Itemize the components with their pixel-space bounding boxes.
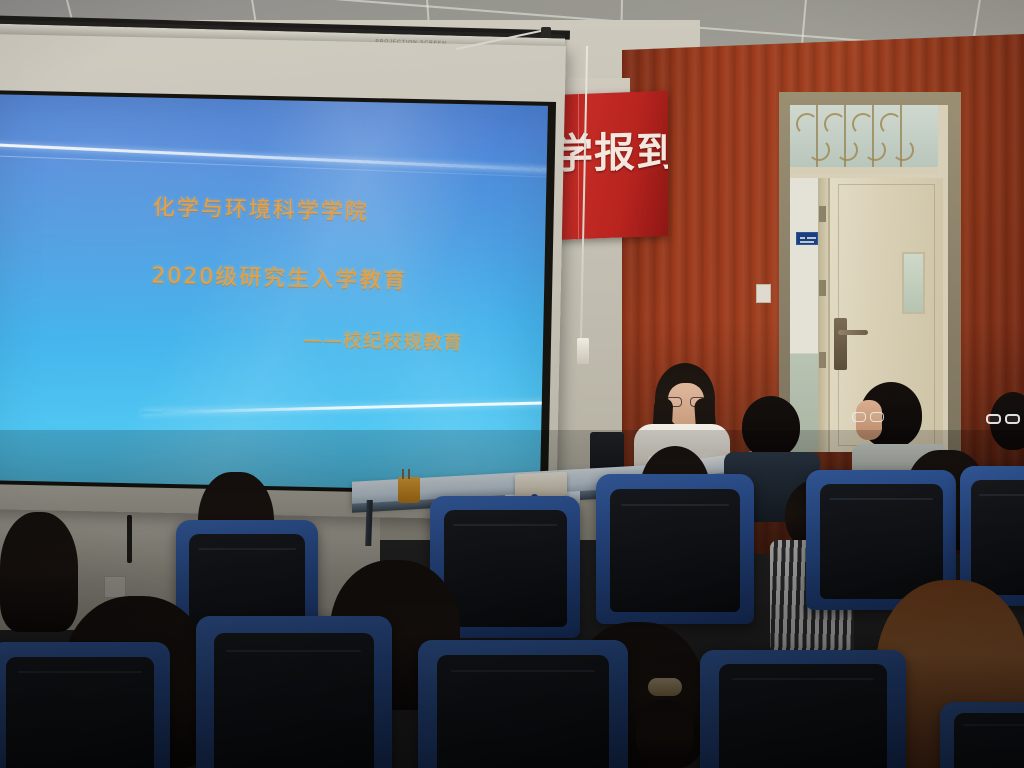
door-vision-panel	[902, 252, 925, 314]
door-lock-plate[interactable]	[834, 318, 847, 370]
wall-cable	[127, 515, 132, 563]
classroom-scene: 学报到 PROJECTION SCREEN 化学与环境科学学院 2020级研究生…	[0, 0, 1024, 768]
audience-ponytail	[636, 700, 694, 768]
light-switch[interactable]	[756, 284, 771, 303]
chair-front-e[interactable]	[940, 702, 1024, 768]
screen-pull-cord-handle[interactable]	[577, 338, 589, 364]
slide-text-block: 化学与环境科学学院 2020级研究生入学教育 ——校纪校规教育	[0, 94, 548, 492]
audience-glasses-icon-far-right	[986, 414, 1020, 424]
yellow-cup	[398, 477, 420, 503]
audience-glasses-icon-right-man	[852, 412, 886, 422]
screen-ceiling-mount	[541, 27, 551, 38]
door-hinge-bottom	[819, 352, 826, 368]
audience-head-back-left-man	[742, 396, 800, 458]
door-hinge-top	[819, 206, 826, 222]
red-welcome-banner: 学报到	[548, 91, 668, 241]
projected-slide: 化学与环境科学学院 2020级研究生入学教育 ——校纪校规教育	[0, 94, 548, 492]
audience-hair-clip	[648, 678, 682, 696]
door-lever-handle[interactable]	[838, 330, 868, 335]
door-transom-window	[790, 105, 938, 173]
audience-head-row2-farleft	[0, 512, 78, 632]
wall-socket[interactable]	[104, 576, 126, 598]
door-info-sign	[796, 232, 818, 245]
tissue-box	[515, 472, 567, 499]
door-hinge-mid	[819, 280, 826, 296]
chair-row2-c[interactable]	[596, 474, 754, 624]
chair-front-d[interactable]	[700, 650, 906, 768]
slide-line-2: 2020级研究生入学教育	[151, 258, 408, 295]
chair-front-a[interactable]	[0, 642, 170, 768]
banner-text: 学报到	[552, 118, 668, 181]
chair-front-b[interactable]	[196, 616, 392, 768]
slide-line-1: 化学与环境科学学院	[152, 190, 369, 227]
chair-front-c[interactable]	[418, 640, 628, 768]
slide-line-3: ——校纪校规教育	[303, 325, 464, 355]
transom-bars	[790, 105, 938, 167]
